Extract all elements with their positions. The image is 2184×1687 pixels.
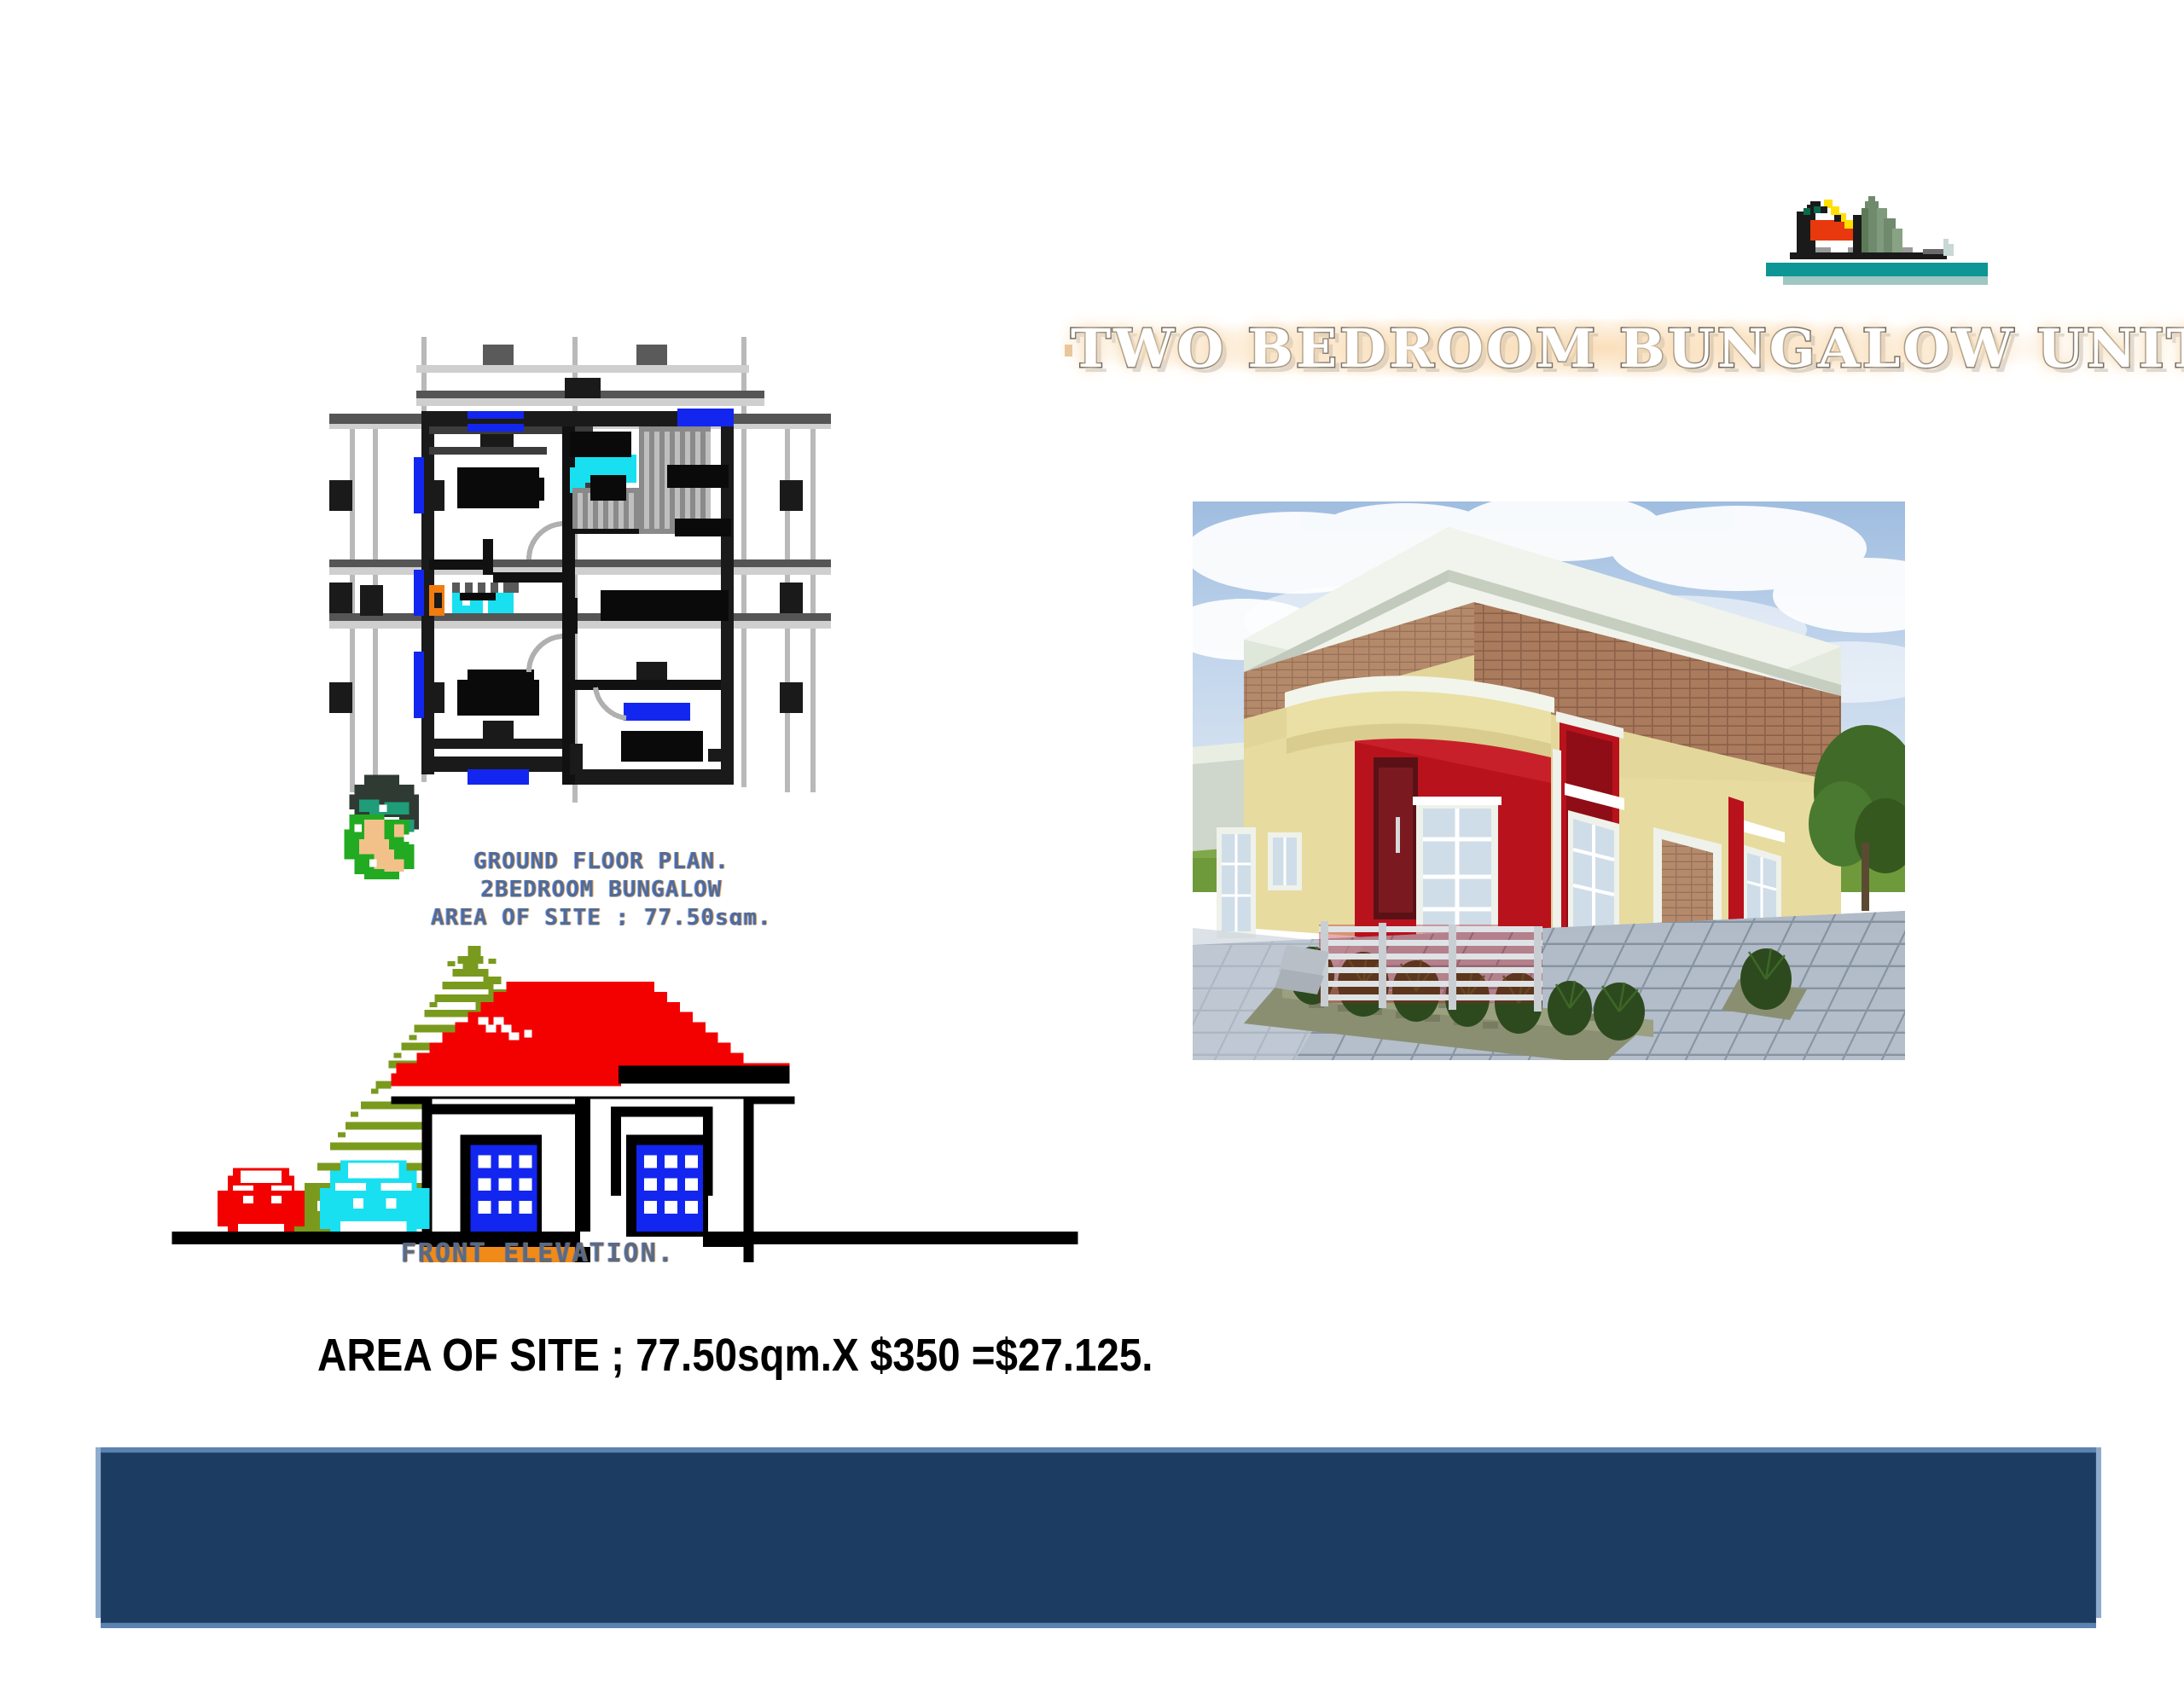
bottom-banner bbox=[101, 1447, 2096, 1628]
page-title-text: TWO BEDROOM BUNGALOW UNITS bbox=[1071, 314, 2080, 384]
house-and-trees-logo bbox=[1759, 191, 2049, 285]
bungalow-3d-render bbox=[1193, 501, 1905, 1060]
area-of-site-cost-note: AREA OF SITE ; 77.50sqm.X $350 =$27.125. bbox=[317, 1329, 1153, 1382]
title-leading-mark bbox=[1065, 345, 1072, 357]
floor-plan-caption: GROUND FLOOR PLAN. 2BEDROOM BUNGALOW ARE… bbox=[401, 848, 802, 932]
page-title: TWO BEDROOM BUNGALOW UNITS bbox=[1071, 314, 2060, 384]
banner-right-edge bbox=[2096, 1447, 2101, 1618]
elevation-caption: FRONT ELEVATION. bbox=[401, 1238, 802, 1268]
front-elevation-drawing bbox=[171, 925, 1079, 1262]
floor-plan-caption-line-2: 2BEDROOM BUNGALOW bbox=[401, 876, 802, 904]
slide-canvas: TWO BEDROOM BUNGALOW UNITS bbox=[0, 0, 2184, 1687]
floor-plan-caption-line-1: GROUND FLOOR PLAN. bbox=[401, 848, 802, 876]
